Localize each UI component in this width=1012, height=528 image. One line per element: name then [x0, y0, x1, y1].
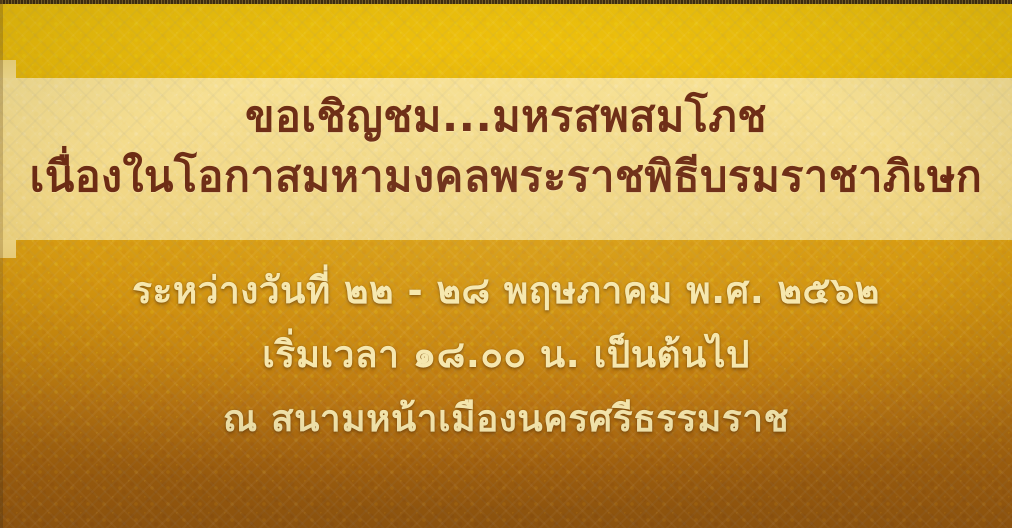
headline-line-2: เนื่องในโอกาสมหามงคลพระราชพิธีบรมราชาภิเ… [0, 156, 1012, 199]
event-announcement-banner: ขอเชิญชม...มหรสพสมโภช เนื่องในโอกาสมหามง… [0, 0, 1012, 528]
top-dotted-rule [0, 0, 1012, 4]
headline-line-1: ขอเชิญชม...มหรสพสมโภช [0, 96, 1012, 139]
event-time-line: เริ่มเวลา ๑๘.๐๐ น. เป็นต้นไป [0, 336, 1012, 373]
event-venue-line: ณ สนามหน้าเมืองนครศรีธรรมราช [0, 400, 1012, 437]
top-gold-band [0, 0, 1012, 78]
event-date-line: ระหว่างวันที่ ๒๒ - ๒๘ พฤษภาคม พ.ศ. ๒๕๖๒ [0, 272, 1012, 309]
band-top-pattern-texture [0, 0, 1012, 78]
band-top-lattice-texture [0, 0, 1012, 78]
left-edge-shadow [0, 0, 3, 528]
